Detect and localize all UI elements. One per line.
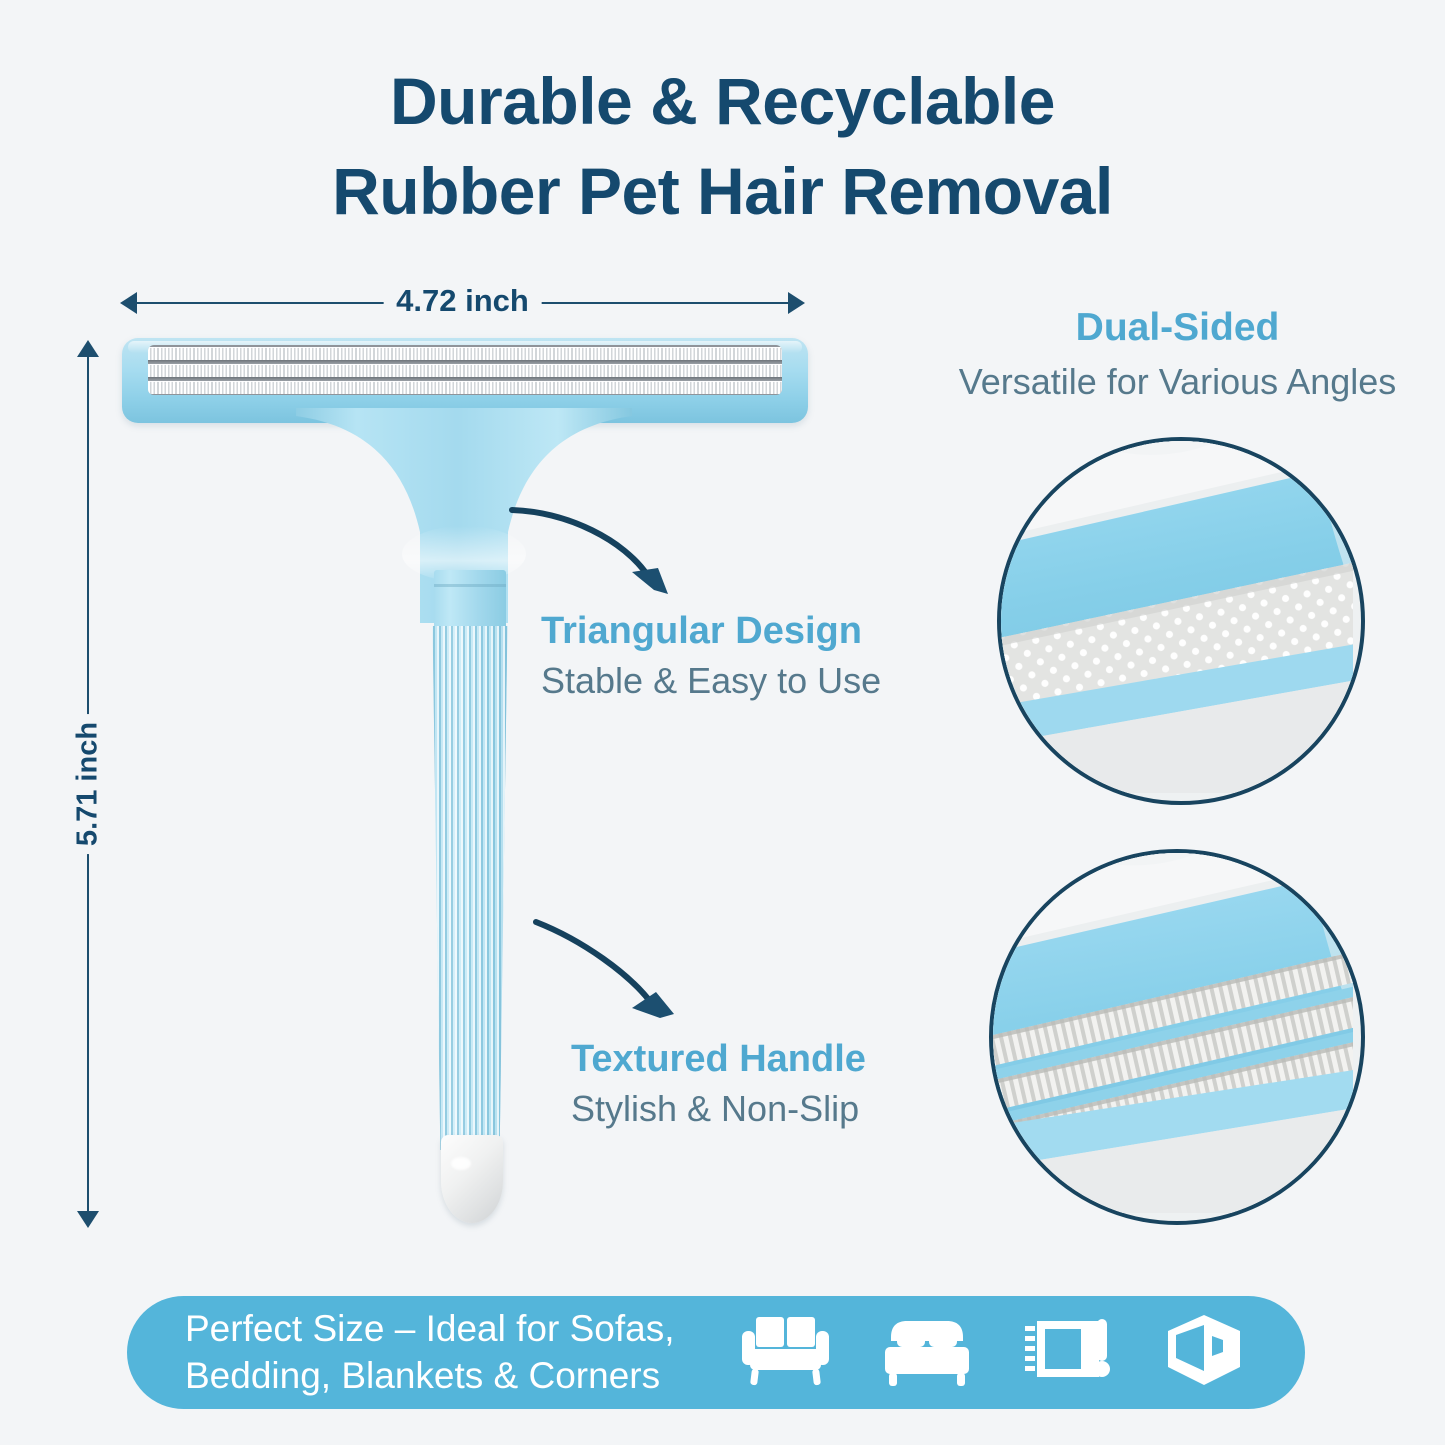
rubber-rib-strip: [148, 347, 782, 360]
handle-collar: [434, 570, 506, 630]
rubber-rib-strip: [148, 381, 782, 394]
banner-text: Perfect Size – Ideal for Sofas, Bedding,…: [185, 1306, 674, 1400]
rubber-strip-area: [148, 345, 782, 395]
callout-headline: Textured Handle: [571, 1036, 866, 1082]
detail-photo-ribbed-strips: [989, 849, 1365, 1225]
callout-headline: Triangular Design: [541, 608, 881, 654]
detail-photo-dotted-strip: [997, 437, 1365, 805]
rug-icon: [1023, 1313, 1115, 1392]
callout-subtext: Versatile for Various Angles: [925, 359, 1430, 404]
callout-subtext: Stable & Easy to Use: [541, 658, 881, 703]
callout-subtext: Stylish & Non-Slip: [571, 1086, 866, 1131]
infographic-canvas: Durable & Recyclable Rubber Pet Hair Rem…: [0, 0, 1445, 1445]
callout-textured-handle: Textured Handle Stylish & Non-Slip: [571, 1036, 866, 1132]
handle-end-cap: [441, 1135, 503, 1223]
banner-line-1: Perfect Size – Ideal for Sofas,: [185, 1306, 674, 1353]
banner-icon-row: [739, 1311, 1269, 1394]
callout-headline: Dual-Sided: [925, 305, 1430, 352]
curved-arrow-icon: [528, 912, 688, 1034]
bottom-banner: Perfect Size – Ideal for Sofas, Bedding,…: [127, 1296, 1305, 1409]
curved-arrow-icon: [506, 498, 676, 608]
dotted-rubber-strip-closeup: [1001, 441, 1361, 801]
rubber-rib-strip: [148, 364, 782, 377]
textured-handle: [431, 626, 509, 1150]
ribbed-rubber-strips-closeup: [993, 853, 1361, 1221]
callout-triangular-design: Triangular Design Stable & Easy to Use: [541, 608, 881, 704]
bed-icon: [877, 1313, 977, 1392]
sofa-icon: [739, 1313, 831, 1392]
callout-dual-sided: Dual-Sided Versatile for Various Angles: [925, 305, 1430, 404]
corner-icon: [1161, 1311, 1247, 1394]
banner-line-2: Bedding, Blankets & Corners: [185, 1353, 674, 1400]
